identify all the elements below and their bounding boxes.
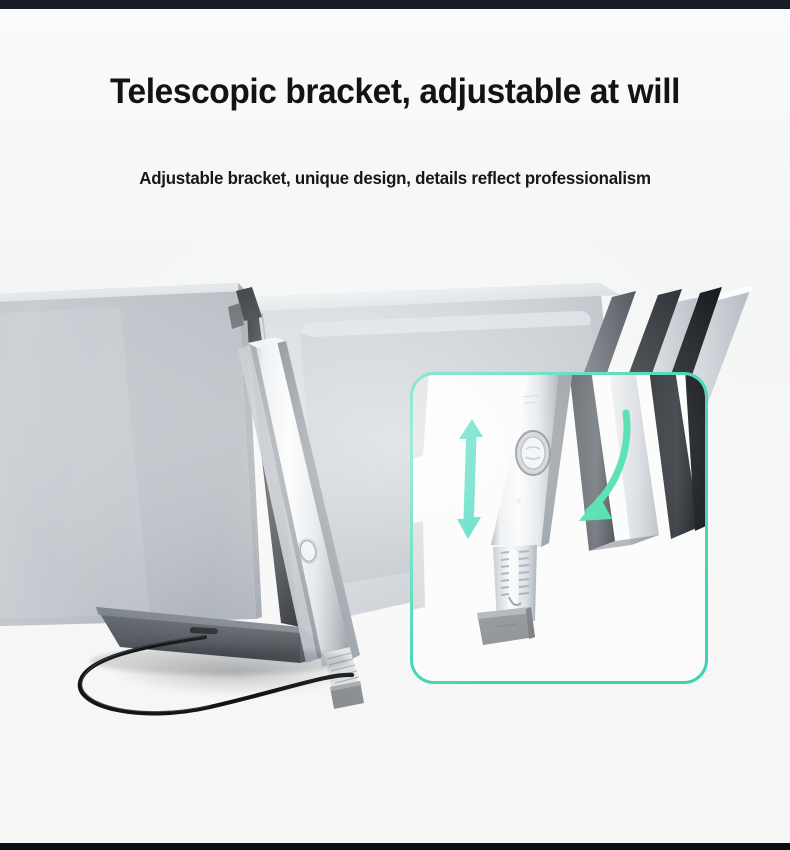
telescopic-adjustment-detail-panel: // bbox=[410, 372, 708, 684]
page-title: Telescopic bracket, adjustable at will bbox=[18, 72, 772, 112]
svg-text://: // bbox=[517, 498, 521, 505]
inset-photo: // bbox=[413, 375, 705, 681]
page-subtitle: Adjustable bracket, unique design, detai… bbox=[14, 168, 776, 189]
top-divider-bar bbox=[0, 0, 790, 9]
product-marketing-image: // bbox=[0, 0, 790, 850]
bottom-divider-bar bbox=[0, 843, 790, 850]
laptop-lid-left bbox=[0, 283, 262, 627]
